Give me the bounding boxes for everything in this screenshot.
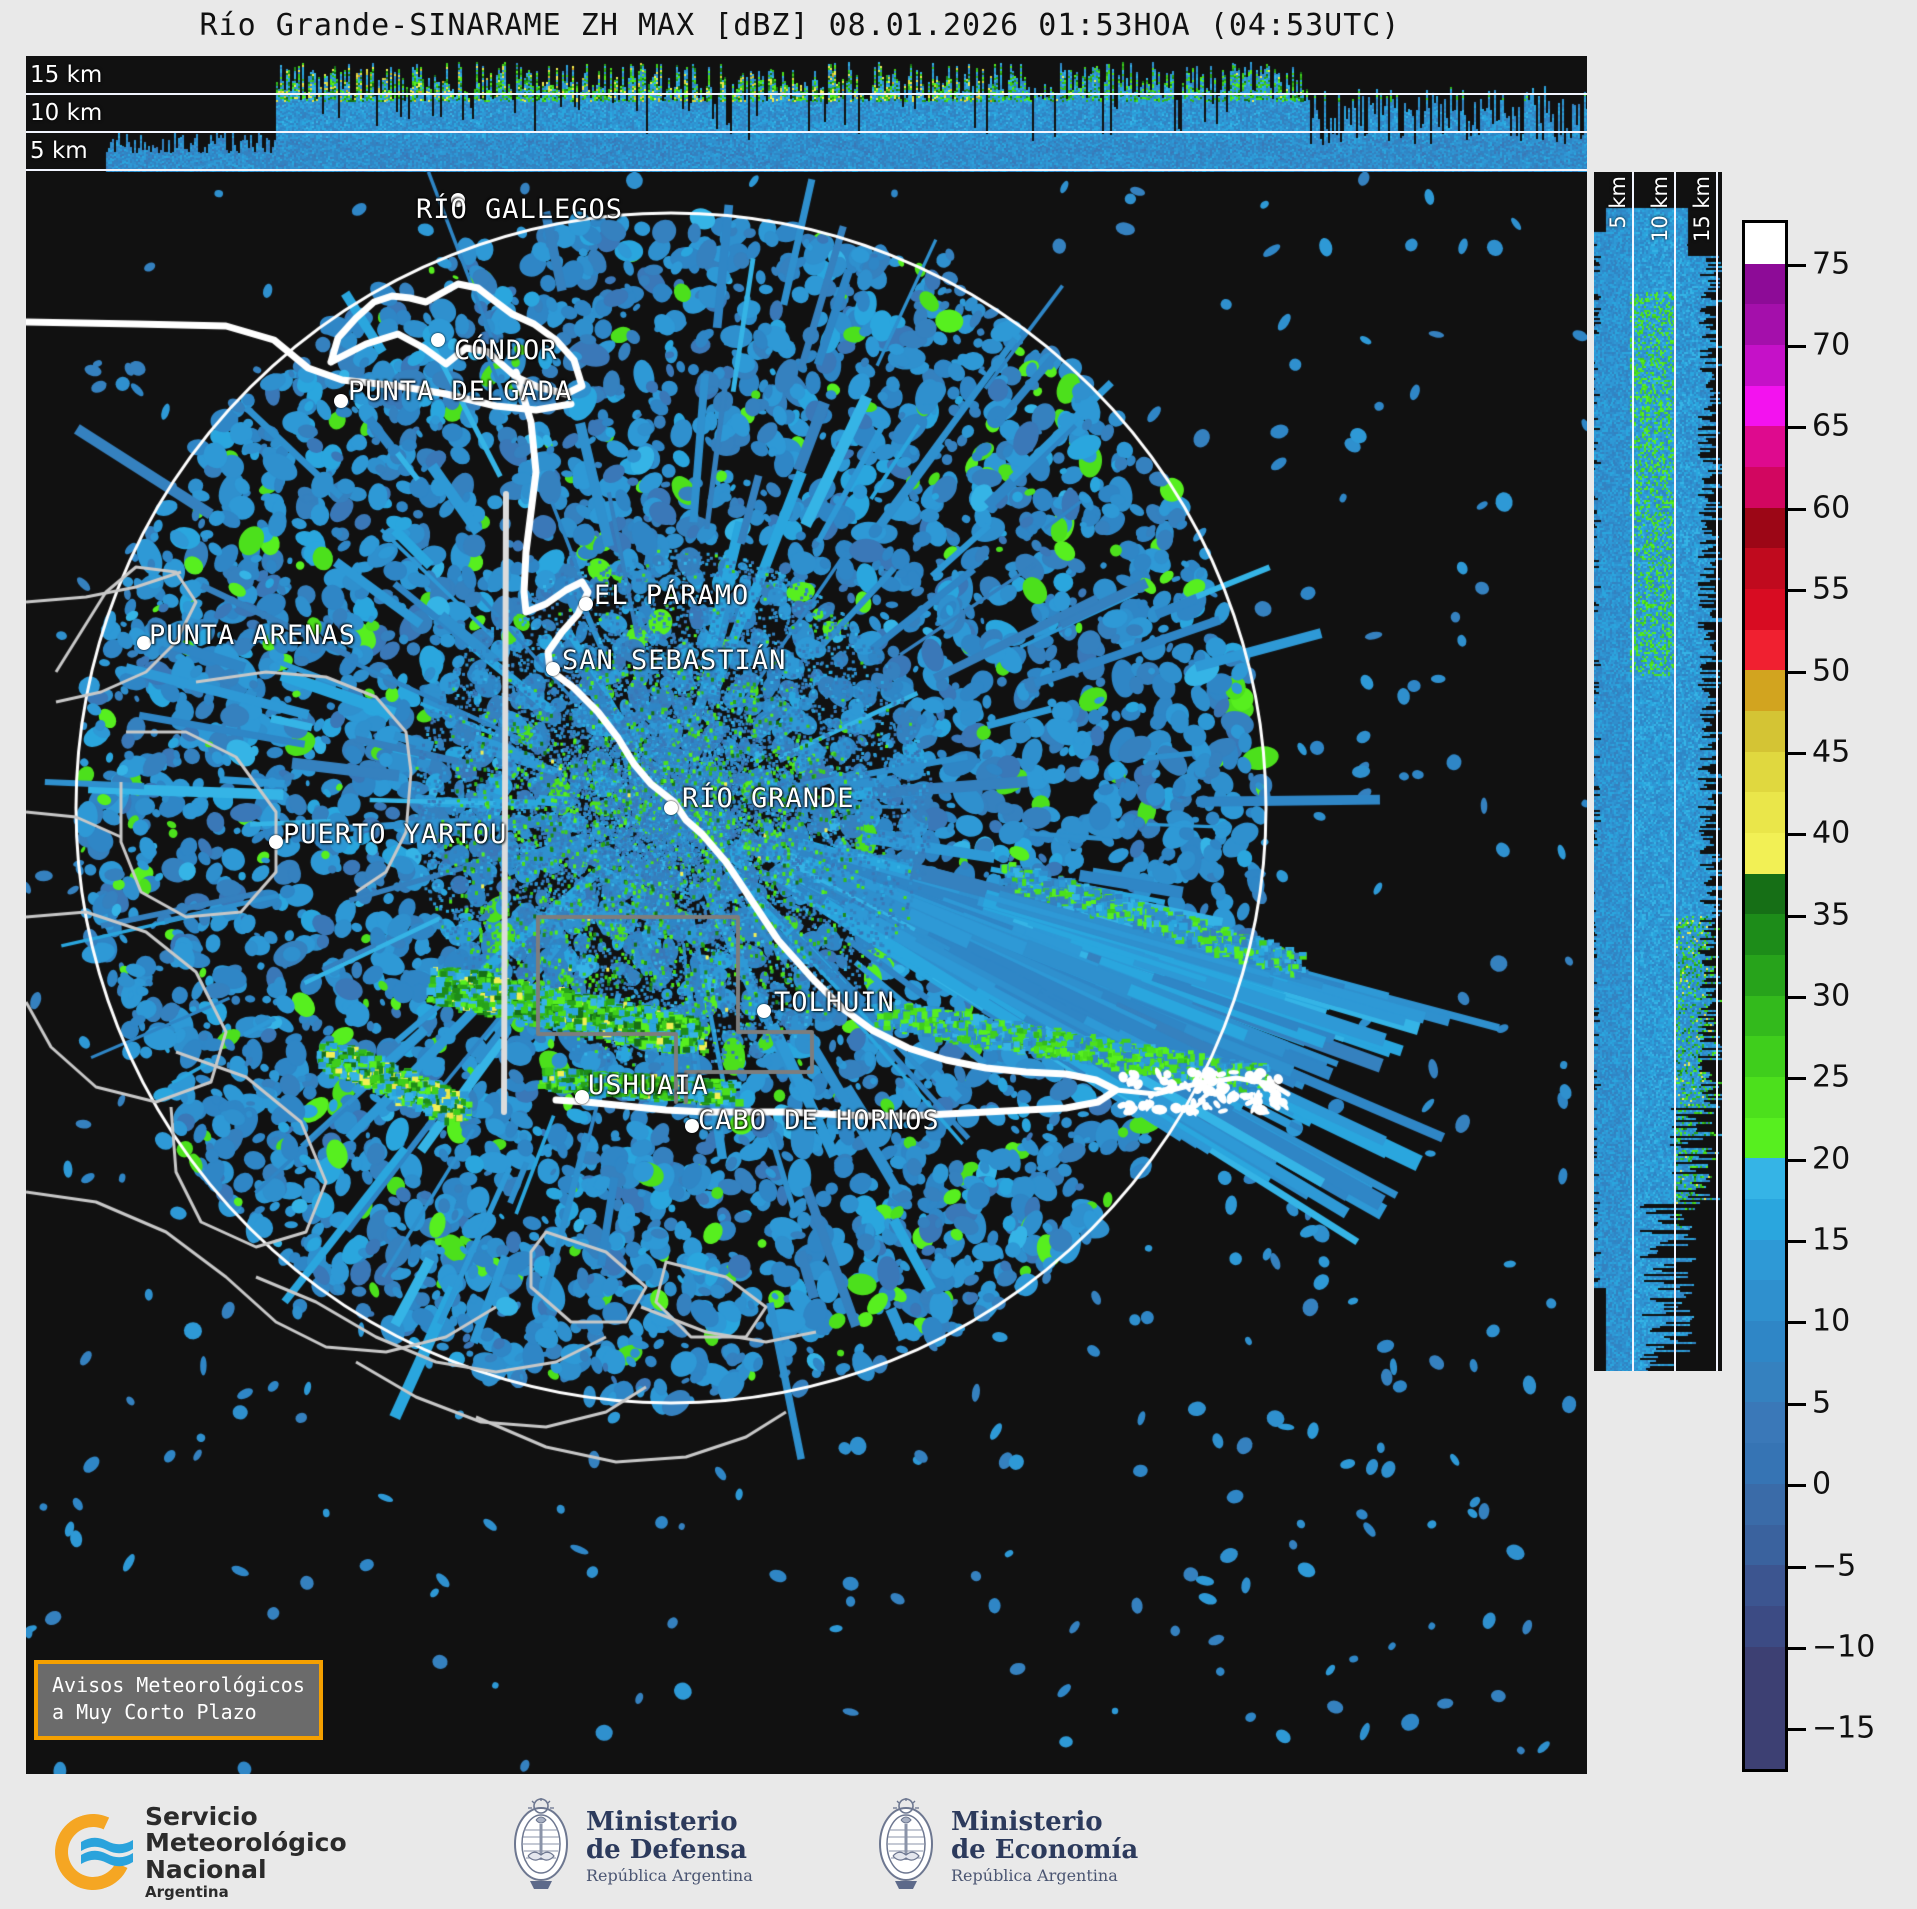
colorbar-tick-label: −15: [1812, 1711, 1875, 1746]
colorbar-segment: [1745, 996, 1785, 1037]
colorbar-segment: [1745, 1484, 1785, 1525]
smn-line-3: Nacional: [145, 1857, 347, 1883]
colorbar-segment: [1745, 1687, 1785, 1768]
colorbar-tick-label: 70: [1812, 328, 1850, 363]
colorbar-segment: [1745, 1280, 1785, 1321]
city-label: EL PÁRAMO: [594, 580, 749, 611]
cross-section-right-panel: 5 km 10 km 15 km: [1594, 172, 1722, 1371]
argentina-coat-of-arms-icon: [510, 1798, 572, 1894]
colorbar-segment: [1745, 1036, 1785, 1077]
logo-ministerio-defensa: Ministerio de Defensa República Argentin…: [510, 1798, 753, 1894]
colorbar-segment: [1745, 670, 1785, 711]
colorbar-segment: [1745, 548, 1785, 589]
height-label-15km-v: 15 km: [1690, 176, 1714, 242]
colorbar-segment: [1745, 1321, 1785, 1362]
colorbar-segment: [1745, 833, 1785, 874]
colorbar-tick-label: 10: [1812, 1304, 1850, 1339]
colorbar-tick: [1788, 1647, 1806, 1650]
height-line-5km: [26, 169, 1587, 171]
colorbar-tick: [1788, 1240, 1806, 1243]
colorbar-segment: [1745, 508, 1785, 549]
colorbar-segment: [1745, 467, 1785, 508]
colorbar-tick: [1788, 1728, 1806, 1731]
city-marker-dot: [664, 801, 678, 815]
height-label-10km: 10 km: [30, 100, 102, 126]
colorbar-tick: [1788, 1077, 1806, 1080]
economia-line-2: de Economía: [951, 1836, 1138, 1864]
colorbar-tick-label: 50: [1812, 653, 1850, 688]
height-line-10km-v: [1674, 172, 1676, 1371]
colorbar-segment: [1745, 914, 1785, 955]
logo-ministerio-economia: Ministerio de Economía República Argenti…: [875, 1798, 1138, 1894]
city-marker-dot: [269, 835, 283, 849]
city-label: RÍO GALLEGOS: [416, 194, 623, 225]
page-title: Río Grande-SINARAME ZH MAX [dBZ] 08.01.2…: [0, 8, 1600, 43]
city-marker-dot: [546, 662, 560, 676]
colorbar-segment: [1745, 426, 1785, 467]
city-label: RÍO GRANDE: [682, 783, 855, 814]
colorbar-tick-label: 55: [1812, 572, 1850, 607]
colorbar-tick: [1788, 1321, 1806, 1324]
colorbar-tick-label: 40: [1812, 816, 1850, 851]
smn-line-4: Argentina: [145, 1885, 347, 1901]
city-label: USHUAIA: [588, 1070, 709, 1101]
colorbar-tick: [1788, 915, 1806, 918]
city-label: CÓNDOR: [454, 335, 558, 366]
colorbar-tick-label: 15: [1812, 1223, 1850, 1258]
colorbar-tick-label: 25: [1812, 1060, 1850, 1095]
colorbar-segment: [1745, 1077, 1785, 1118]
colorbar-segment: [1745, 1240, 1785, 1281]
height-line-15km-v: [1716, 172, 1718, 1371]
colorbar-segment: [1745, 345, 1785, 386]
colorbar-tick: [1788, 345, 1806, 348]
city-label: SAN SEBASTIÁN: [562, 645, 786, 676]
colorbar-segment: [1745, 386, 1785, 427]
height-label-15km: 15 km: [30, 62, 102, 88]
warning-line-1: Avisos Meteorológicos: [52, 1672, 305, 1699]
colorbar-segment: [1745, 792, 1785, 833]
status-badge: Avisos Meteorológicos a Muy Corto Plazo: [34, 1660, 323, 1740]
colorbar-tick-label: −10: [1812, 1629, 1875, 1664]
colorbar-tick-label: 45: [1812, 734, 1850, 769]
smn-line-1: Servicio: [145, 1804, 347, 1830]
argentina-coat-of-arms-icon-2: [875, 1798, 937, 1894]
colorbar-tick: [1788, 508, 1806, 511]
colorbar-segment: [1745, 1525, 1785, 1566]
colorbar-segment: [1745, 874, 1785, 915]
height-label-5km-v: 5 km: [1606, 176, 1630, 229]
colorbar-segment: [1745, 1606, 1785, 1647]
colorbar-ticks: −15−10−5051015202530354045505560657075: [1788, 220, 1908, 1772]
city-label: PUNTA ARENAS: [149, 620, 356, 651]
colorbar-tick-label: 60: [1812, 490, 1850, 525]
logo-smn: Servicio Meteorológico Nacional Argentin…: [55, 1804, 347, 1901]
colorbar-tick: [1788, 752, 1806, 755]
city-marker-dot: [757, 1004, 771, 1018]
colorbar-segment: [1745, 1158, 1785, 1199]
footer: Servicio Meteorológico Nacional Argentin…: [0, 1790, 1917, 1909]
colorbar-tick: [1788, 1484, 1806, 1487]
colorbar-segment: [1745, 630, 1785, 671]
colorbar-tick: [1788, 264, 1806, 267]
defensa-line-2: de Defensa: [586, 1836, 753, 1864]
colorbar-tick: [1788, 671, 1806, 674]
city-marker-dot: [431, 333, 445, 347]
height-label-5km: 5 km: [30, 138, 88, 164]
radar-ppi-canvas[interactable]: [26, 172, 1587, 1774]
colorbar-segment: [1745, 1362, 1785, 1403]
city-marker-dot: [334, 394, 348, 408]
colorbar-segment: [1745, 223, 1785, 264]
colorbar-tick-label: −5: [1812, 1548, 1856, 1583]
height-line-15km: [26, 93, 1587, 95]
colorbar-segment: [1745, 1402, 1785, 1443]
colorbar-segment: [1745, 711, 1785, 752]
colorbar-tick-label: 0: [1812, 1467, 1831, 1502]
defensa-line-3: República Argentina: [586, 1867, 753, 1884]
colorbar-segment: [1745, 1565, 1785, 1606]
colorbar-tick-label: 5: [1812, 1385, 1831, 1420]
colorbar-tick: [1788, 1566, 1806, 1569]
colorbar-tick: [1788, 426, 1806, 429]
colorbar-tick-label: 65: [1812, 409, 1850, 444]
colorbar: [1742, 220, 1788, 1772]
city-marker-dot: [575, 1090, 589, 1104]
colorbar-segment: [1745, 955, 1785, 996]
colorbar-segment: [1745, 1199, 1785, 1240]
colorbar-segment: [1745, 304, 1785, 345]
city-marker-dot: [579, 597, 593, 611]
smn-line-2: Meteorológico: [145, 1830, 347, 1856]
colorbar-segment: [1745, 1118, 1785, 1159]
colorbar-segment: [1745, 1443, 1785, 1484]
defensa-line-1: Ministerio: [586, 1808, 753, 1836]
city-label: TOLHUIN: [774, 987, 895, 1018]
colorbar-segment: [1745, 752, 1785, 793]
colorbar-segment: [1745, 589, 1785, 630]
colorbar-segment: [1745, 1647, 1785, 1688]
city-label: PUNTA DELGADA: [348, 376, 572, 407]
smn-logo-icon: [55, 1814, 131, 1890]
economia-line-1: Ministerio: [951, 1808, 1138, 1836]
cross-section-top-panel: 15 km 10 km 5 km: [26, 56, 1587, 172]
colorbar-tick-label: 30: [1812, 979, 1850, 1014]
colorbar-tick: [1788, 996, 1806, 999]
city-label: PUERTO YARTOU: [283, 819, 507, 850]
colorbar-tick-label: 75: [1812, 246, 1850, 281]
city-label: CABO DE HORNOS: [698, 1105, 940, 1136]
colorbar-tick-label: 20: [1812, 1141, 1850, 1176]
city-marker-dot: [685, 1119, 699, 1133]
radar-ppi-panel[interactable]: RÍO GALLEGOSCÓNDORPUNTA DELGADAEL PÁRAMO…: [26, 172, 1587, 1774]
colorbar-tick: [1788, 589, 1806, 592]
height-line-10km: [26, 131, 1587, 133]
colorbar-tick: [1788, 833, 1806, 836]
cross-section-top-canvas: [26, 56, 1587, 172]
economia-line-3: República Argentina: [951, 1867, 1138, 1884]
colorbar-segment: [1745, 264, 1785, 305]
cross-section-right-canvas: [1594, 172, 1722, 1371]
colorbar-tick: [1788, 1403, 1806, 1406]
colorbar-tick: [1788, 1159, 1806, 1162]
height-label-10km-v: 10 km: [1648, 176, 1672, 242]
warning-line-2: a Muy Corto Plazo: [52, 1699, 305, 1726]
height-line-5km-v: [1632, 172, 1634, 1371]
colorbar-tick-label: 35: [1812, 897, 1850, 932]
